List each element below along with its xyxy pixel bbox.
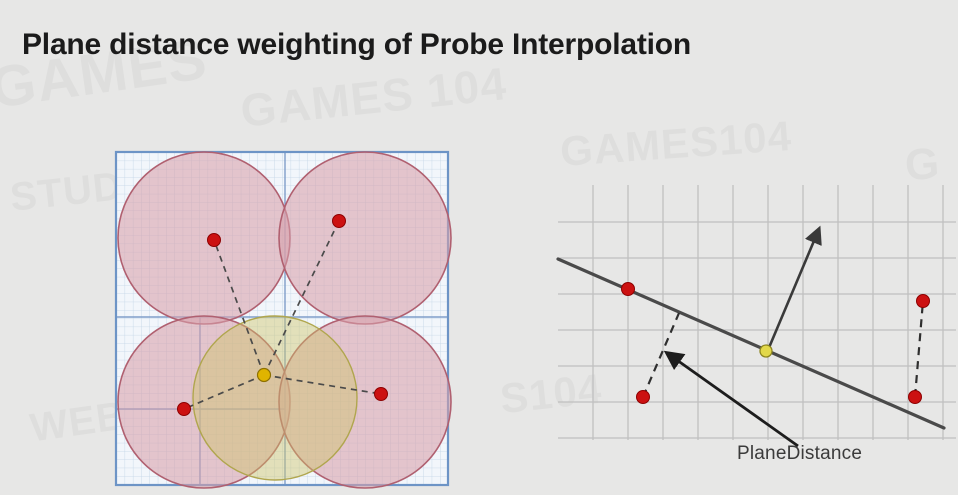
plane-sample-point <box>760 345 772 357</box>
plane-probe-upper-right <box>917 295 930 308</box>
blend-circle-center <box>193 316 357 480</box>
watermark-text: GAMES104 <box>559 112 794 176</box>
probe-circle-top-right <box>279 152 451 324</box>
slide-canvas: GAMESGAMES 104GAMES104GSTUDS104WEB Plane… <box>0 0 958 495</box>
plane-grid-lines <box>558 185 956 440</box>
probe-circle-top-left <box>118 152 290 324</box>
probe-point-top-left <box>208 234 221 247</box>
probe-point-bottom-right <box>375 388 388 401</box>
plane-probe-points <box>622 283 930 404</box>
page-title: Plane distance weighting of Probe Interp… <box>22 28 691 62</box>
probe-point-bottom-left <box>178 403 191 416</box>
normal-arrow <box>768 229 819 350</box>
probe-point-top-right <box>333 215 346 228</box>
watermark-text: GAMES 104 <box>238 56 509 138</box>
plane-probe-lower-right <box>909 391 922 404</box>
plane-distance-svg <box>540 170 958 490</box>
plane-distance-diagram <box>540 170 958 490</box>
plane-probe-lower-left <box>637 391 650 404</box>
sample-point <box>258 369 271 382</box>
probe-grid-svg <box>108 144 456 494</box>
plane-distance-label: PlaneDistance <box>737 443 862 465</box>
probe-grid-diagram <box>108 144 456 494</box>
distance-left <box>643 313 679 397</box>
plane-probe-upper-left <box>622 283 635 296</box>
distance-right <box>915 301 923 397</box>
